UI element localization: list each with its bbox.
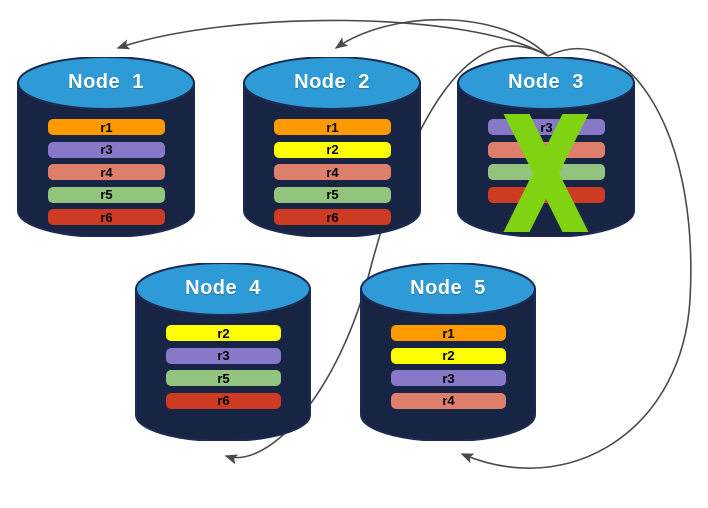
replica-bar: r3 bbox=[488, 119, 605, 135]
replica-bar: r1 bbox=[48, 119, 165, 135]
replica-bar bbox=[488, 164, 605, 180]
node-5[interactable]: Node 5r1r2r3r4 bbox=[360, 263, 536, 441]
node-1[interactable]: Node 1r1r3r4r5r6 bbox=[17, 57, 195, 237]
node-4-top-disc bbox=[136, 263, 310, 315]
replica-bar: r4 bbox=[48, 164, 165, 180]
edge-node3-to-node1 bbox=[118, 20, 548, 56]
replica-bar: r6 bbox=[274, 209, 391, 225]
replica-bar: r6 bbox=[48, 209, 165, 225]
replica-bar: r3 bbox=[48, 142, 165, 158]
node-2[interactable]: Node 2r1r2r4r5r6 bbox=[243, 57, 421, 237]
replica-bar: r5 bbox=[274, 187, 391, 203]
node-1-top-disc bbox=[18, 57, 194, 109]
replica-bar bbox=[488, 142, 605, 158]
replica-bar: r2 bbox=[274, 142, 391, 158]
replica-bar: r1 bbox=[391, 325, 506, 341]
node-2-top-disc bbox=[244, 57, 420, 109]
replica-bar: r3 bbox=[391, 370, 506, 386]
replica-bar: r6 bbox=[166, 393, 281, 409]
replica-bar bbox=[488, 187, 605, 203]
replica-bar: r5 bbox=[48, 187, 165, 203]
node-3-top-disc bbox=[458, 57, 634, 109]
replica-bar: r4 bbox=[391, 393, 506, 409]
replica-bar: r1 bbox=[274, 119, 391, 135]
node-3[interactable]: Node 3r3 bbox=[457, 57, 635, 237]
replica-bar: r3 bbox=[166, 348, 281, 364]
replica-bar: r5 bbox=[166, 370, 281, 386]
replica-bar: r4 bbox=[274, 164, 391, 180]
node-4[interactable]: Node 4r2r3r5r6 bbox=[135, 263, 311, 441]
node-5-top-disc bbox=[361, 263, 535, 315]
replica-bar: r2 bbox=[166, 325, 281, 341]
edge-node3-to-node2 bbox=[336, 20, 548, 56]
replica-bar: r2 bbox=[391, 348, 506, 364]
diagram-canvas: Node 1r1r3r4r5r6Node 2r1r2r4r5r6Node 3r3… bbox=[0, 0, 708, 508]
